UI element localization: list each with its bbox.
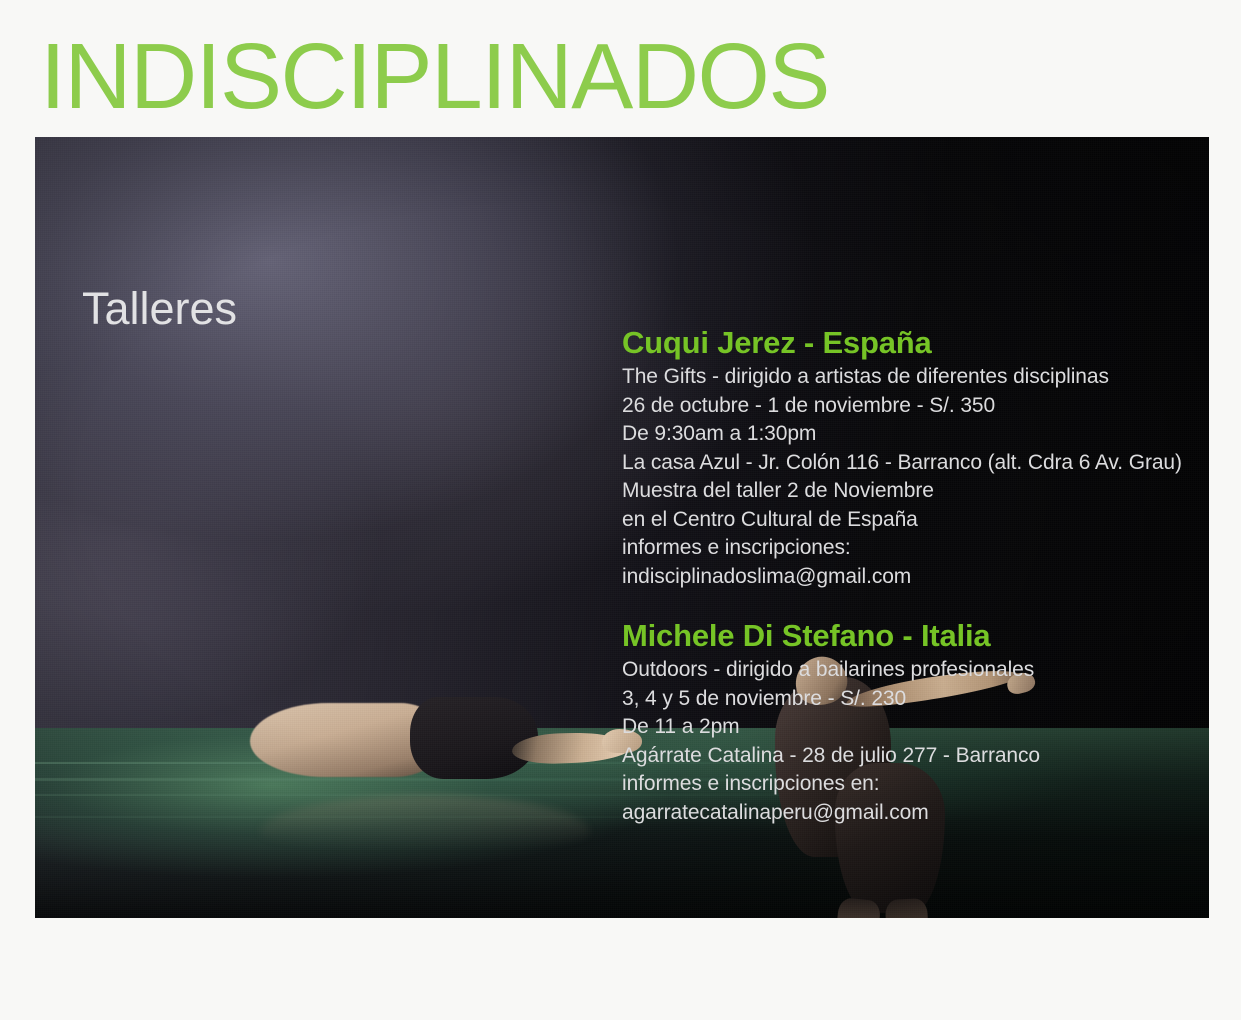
dancer-lying-reflection: [260, 795, 590, 849]
workshops-column: Cuqui Jerez - España The Gifts - dirigid…: [622, 325, 1209, 827]
workshop-detail-line: informes e inscripciones en:: [622, 770, 1209, 799]
hero-photo: Talleres Cuqui Jerez - España The Gifts …: [35, 137, 1209, 918]
workshop-contact-email[interactable]: indisciplinadoslima@gmail.com: [622, 563, 1209, 592]
page-title: INDISCIPLINADOS: [40, 26, 829, 126]
workshop-detail-line: La casa Azul - Jr. Colón 116 - Barranco …: [622, 449, 1209, 478]
workshop-contact-email[interactable]: agarratecatalinaperu@gmail.com: [622, 799, 1209, 828]
workshop-detail-line: 3, 4 y 5 de noviembre - S/. 230: [622, 685, 1209, 714]
workshop-detail-line: en el Centro Cultural de España: [622, 506, 1209, 535]
workshop-detail-line: 26 de octubre - 1 de noviembre - S/. 350: [622, 392, 1209, 421]
workshop-name: Michele Di Stefano - Italia: [622, 618, 1209, 654]
dancer-lying: [250, 687, 620, 812]
workshop-detail-line: Muestra del taller 2 de Noviembre: [622, 477, 1209, 506]
workshop-name: Cuqui Jerez - España: [622, 325, 1209, 361]
poster-root: INDISCIPLINADOS: [0, 0, 1241, 1020]
section-label: Talleres: [82, 283, 237, 335]
dancer-lying-shorts: [410, 697, 538, 779]
workshop-detail-line: Agárrate Catalina - 28 de julio 277 - Ba…: [622, 742, 1209, 771]
workshop-detail-line: De 9:30am a 1:30pm: [622, 420, 1209, 449]
workshop-block-michele-di-stefano: Michele Di Stefano - Italia Outdoors - d…: [622, 618, 1209, 827]
workshop-block-cuqui-jerez: Cuqui Jerez - España The Gifts - dirigid…: [622, 325, 1209, 591]
workshop-detail-line: De 11 a 2pm: [622, 713, 1209, 742]
workshop-detail-line: Outdoors - dirigido a bailarines profesi…: [622, 656, 1209, 685]
sponsor-footer: laovejanegra ISTITUTO italiano DI CULTUR…: [0, 922, 1241, 1020]
workshop-detail-line: informes e inscripciones:: [622, 534, 1209, 563]
workshop-detail-line: The Gifts - dirigido a artistas de difer…: [622, 363, 1209, 392]
